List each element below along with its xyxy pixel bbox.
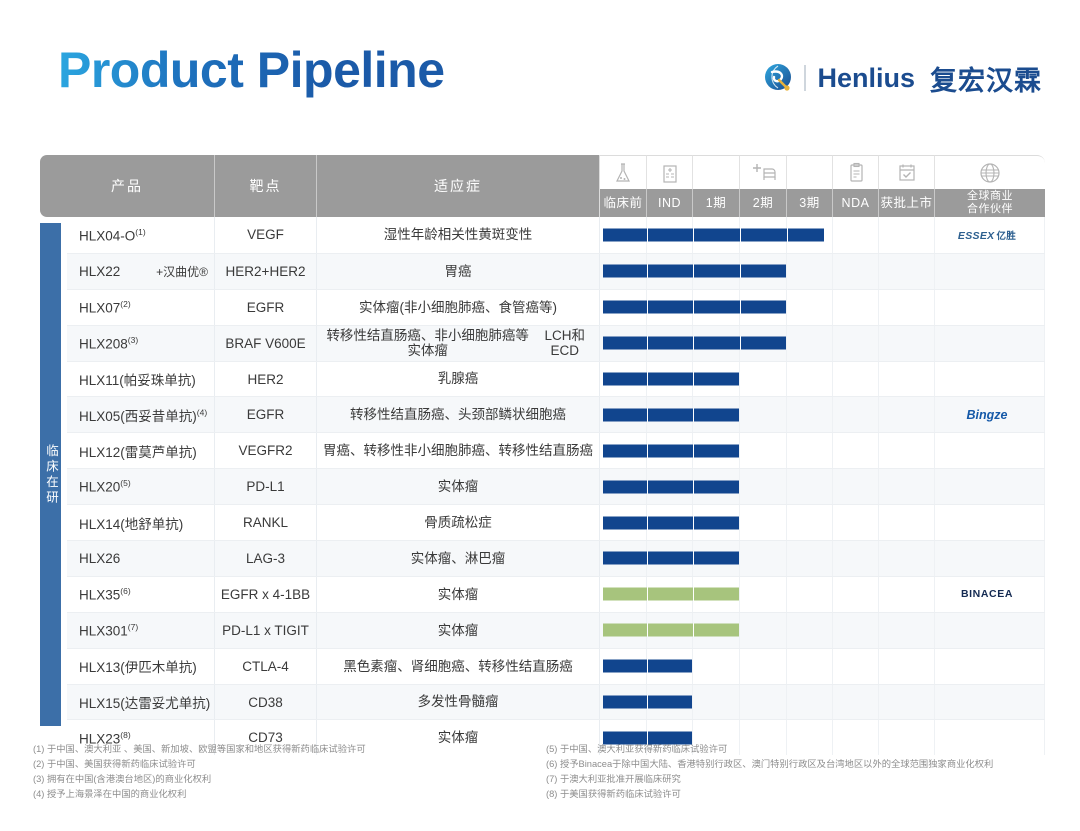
column-header-product: 产品 (40, 155, 215, 217)
footnote-left-2: (2) 于中国、美国获得新药临床试验许可 (33, 757, 540, 772)
rail-label: 临床在研 (42, 444, 59, 506)
indication-text: 实体瘤(非小细胞肺癌、食管癌等) (359, 300, 557, 315)
cell-product: HLX15(达雷妥尤单抗) (67, 685, 215, 720)
bar-segment-divider (693, 228, 694, 241)
stage-cell-2期 (740, 541, 787, 576)
stage-cell-3期 (787, 505, 833, 540)
progress-bar-blue (603, 265, 786, 278)
stage-cell-NDA (833, 541, 879, 576)
cell-indication: 实体瘤 (317, 577, 600, 612)
cell-product: HLX26 (67, 541, 215, 576)
progress-bar-blue (603, 337, 786, 350)
stage-cell-全球商业合作伙伴 (935, 469, 1045, 504)
stage-cell-获批上市 (879, 217, 935, 253)
stage-cell-获批上市 (879, 433, 935, 468)
footnote-right-4: (8) 于美国获得新药临床试验许可 (546, 787, 1047, 802)
partner-logo: Bingze (935, 402, 1039, 428)
global-partner-line1: 全球商业 (967, 190, 1013, 202)
stage-cell-2期 (740, 433, 787, 468)
product-name: HLX04-O(1) (79, 227, 146, 244)
cell-target: EGFR (215, 397, 317, 432)
progress-bar-blue (603, 660, 692, 673)
stage-cell-2期 (740, 613, 787, 648)
partner-logo: BINACEA (935, 581, 1039, 607)
table-row: HLX05(西妥昔单抗)(4)EGFR转移性结直肠癌、头颈部鳞状细胞癌Bingz… (67, 396, 1045, 432)
table-row: HLX20(5)PD-L1实体瘤 (67, 468, 1045, 504)
bar-segment-divider (647, 624, 648, 637)
product-name: HLX11(帕妥珠单抗) (79, 369, 196, 389)
stage-track (600, 613, 1045, 648)
cell-product: HLX13(伊匹木单抗) (67, 649, 215, 684)
footnote-marker: (4) (197, 407, 207, 417)
stage-cell-2期 (740, 505, 787, 540)
indication-text: 转移性结直肠癌、非小细胞肺癌等实体瘤 (321, 328, 534, 358)
indication-text: 实体瘤 (438, 479, 479, 494)
stage-cell-全球商业合作伙伴 (935, 362, 1045, 397)
stage-cell-3期 (787, 326, 833, 361)
product-name: HLX208(3) (79, 335, 138, 352)
clinical-stage-rail: 临床在研 (40, 223, 61, 726)
stage-label-approved: 获批上市 (879, 189, 935, 217)
cell-indication: 多发性骨髓瘤 (317, 685, 600, 720)
brand-divider (804, 65, 806, 91)
indication-text: 黑色素瘤、肾细胞癌、转移性结直肠癌 (343, 659, 573, 674)
cell-target: CD38 (215, 685, 317, 720)
stage-cell-3期 (787, 649, 833, 684)
stage-cell-NDA (833, 397, 879, 432)
product-name: HLX35(6) (79, 586, 131, 603)
stage-cell-获批上市 (879, 541, 935, 576)
cell-indication: 实体瘤、淋巴瘤 (317, 541, 600, 576)
stage-cell-NDA (833, 505, 879, 540)
stage-cell-获批上市 (879, 685, 935, 720)
bar-segment-divider (693, 588, 694, 601)
stage-cell-3期 (787, 577, 833, 612)
footnote-left-3: (3) 拥有在中国(含港澳台地区)的商业化权利 (33, 772, 540, 787)
product-name: HLX12(雷莫芦单抗) (79, 441, 197, 461)
stage-track (600, 685, 1045, 720)
table-row: HLX26LAG-3实体瘤、淋巴瘤 (67, 540, 1045, 576)
stage-cell-3期 (787, 613, 833, 648)
cell-indication: 骨质疏松症 (317, 505, 600, 540)
stage-label-row: 临床前 IND 1期 2期 3期 NDA 获批上市 全球商业 合作伙伴 (600, 189, 1045, 217)
bar-segment-divider (647, 696, 648, 709)
page-header: Product Pipeline Henlius 复 (0, 0, 1080, 140)
cell-indication: 转移性结直肠癌、头颈部鳞状细胞癌 (317, 397, 600, 432)
cell-product: HLX11(帕妥珠单抗) (67, 362, 215, 397)
stage-cell-获批上市 (879, 505, 935, 540)
cell-target: EGFR (215, 290, 317, 325)
stage-cell-全球商业合作伙伴 (935, 326, 1045, 361)
column-header-target: 靶点 (215, 155, 317, 217)
stage-cell-3期 (787, 290, 833, 325)
cell-indication: 黑色素瘤、肾细胞癌、转移性结直肠癌 (317, 649, 600, 684)
partner-logo-essex: ESSEX亿胜 (958, 228, 1016, 242)
stage-label-phase3: 3期 (787, 189, 833, 217)
stage-cell-全球商业合作伙伴 (935, 685, 1045, 720)
globe-icon (935, 155, 1045, 189)
indication-text: 多发性骨髓瘤 (418, 694, 499, 709)
footnote-marker: (3) (128, 335, 138, 345)
cell-target: RANKL (215, 505, 317, 540)
stage-cell-3期 (787, 362, 833, 397)
flask-icon (600, 155, 647, 189)
cell-product: HLX301(7) (67, 613, 215, 648)
partner-logo-binacea: BINACEA (961, 588, 1013, 600)
stage-track: ESSEX亿胜 (600, 217, 1045, 253)
cell-target: HER2 (215, 362, 317, 397)
product-name: HLX26 (79, 551, 120, 566)
progress-bar-green (603, 588, 739, 601)
partner-logo: ESSEX亿胜 (935, 222, 1039, 248)
table-row: HLX35(6)EGFR x 4-1BB实体瘤BINACEA (67, 576, 1045, 612)
stage-cell-获批上市 (879, 613, 935, 648)
stage-cell-NDA (833, 362, 879, 397)
product-name: HLX301(7) (79, 622, 138, 639)
product-pipeline-page: Product Pipeline Henlius 复 (0, 0, 1080, 831)
stage-cell-3期 (787, 433, 833, 468)
stage-cell-全球商业合作伙伴 (935, 433, 1045, 468)
stage-cell-NDA (833, 649, 879, 684)
progress-bar-blue (603, 408, 739, 421)
cell-product: HLX07(2) (67, 290, 215, 325)
bar-segment-divider (647, 552, 648, 565)
cell-indication: 乳腺癌 (317, 362, 600, 397)
cell-target: HER2+HER2 (215, 254, 317, 289)
stage-cell-全球商业合作伙伴 (935, 541, 1045, 576)
bar-segment-divider (693, 444, 694, 457)
bar-segment-divider (647, 444, 648, 457)
indication-text: 乳腺癌 (438, 371, 479, 386)
stage-label-global-partner: 全球商业 合作伙伴 (935, 189, 1045, 217)
cell-target: LAG-3 (215, 541, 317, 576)
cell-indication: 实体瘤 (317, 613, 600, 648)
bar-segment-divider (647, 373, 648, 386)
bar-segment-divider (693, 408, 694, 421)
bar-segment-divider (693, 301, 694, 314)
table-row: HLX07(2)EGFR实体瘤(非小细胞肺癌、食管癌等) (67, 289, 1045, 325)
indication-text-line2: LCH和ECD (534, 328, 595, 358)
brand-name-en: Henlius (817, 63, 915, 94)
stage-track: Bingze (600, 397, 1045, 432)
stage-label-phase2: 2期 (740, 189, 787, 217)
product-name: HLX13(伊匹木单抗) (79, 656, 197, 676)
calendar-check-icon (879, 155, 935, 189)
bar-segment-divider (693, 265, 694, 278)
stage-label-phase1: 1期 (693, 189, 740, 217)
stage-track (600, 254, 1045, 289)
stage-cell-NDA (833, 613, 879, 648)
stage-track (600, 469, 1045, 504)
table-row: HLX208(3)BRAF V600E转移性结直肠癌、非小细胞肺癌等实体瘤LCH… (67, 325, 1045, 361)
cell-target: VEGFR2 (215, 433, 317, 468)
table-row: HLX12(雷莫芦单抗)VEGFR2胃癌、转移性非小细胞肺癌、转移性结直肠癌 (67, 432, 1045, 468)
bar-segment-divider (647, 337, 648, 350)
indication-text: 实体瘤 (438, 623, 479, 638)
stage-cell-NDA (833, 290, 879, 325)
column-header-indication: 适应症 (317, 155, 600, 217)
stage-track (600, 362, 1045, 397)
stage-cell-获批上市 (879, 254, 935, 289)
bar-segment-divider (647, 588, 648, 601)
stage-cell-获批上市 (879, 397, 935, 432)
stage-cell-2期 (740, 685, 787, 720)
bar-segment-divider (787, 228, 788, 241)
stage-cell-NDA (833, 254, 879, 289)
cell-indication: 实体瘤(非小细胞肺癌、食管癌等) (317, 290, 600, 325)
footnote-left-1: (1) 于中国、澳大利亚 、美国、新加坡、欧盟等国家和地区获得新药临床试验许可 (33, 742, 540, 757)
global-partner-line2: 合作伙伴 (967, 203, 1013, 215)
cell-target: PD-L1 (215, 469, 317, 504)
henlius-globe-logo-icon (763, 62, 795, 94)
stage-cell-全球商业合作伙伴 (935, 613, 1045, 648)
stage-label-ind: IND (647, 189, 693, 217)
progress-bar-blue (603, 552, 739, 565)
indication-text: 胃癌、转移性非小细胞肺癌、转移性结直肠癌 (323, 443, 593, 458)
cell-target: EGFR x 4-1BB (215, 577, 317, 612)
pipeline-row-list: HLX04-O(1)VEGF湿性年龄相关性黄斑变性ESSEX亿胜HLX22+汉曲… (67, 217, 1045, 755)
cell-indication: 胃癌、转移性非小细胞肺癌、转移性结直肠癌 (317, 433, 600, 468)
stage-label-preclinical: 临床前 (600, 189, 647, 217)
cell-target: PD-L1 x TIGIT (215, 613, 317, 648)
partner-logo-bingze: Bingze (967, 408, 1008, 422)
stage-cell-获批上市 (879, 577, 935, 612)
stage-track (600, 541, 1045, 576)
cell-product: HLX35(6) (67, 577, 215, 612)
product-name: HLX14(地舒单抗) (79, 513, 183, 533)
cell-product: HLX05(西妥昔单抗)(4) (67, 397, 215, 432)
pipeline-table: 产品 靶点 适应症 (40, 155, 1045, 755)
stage-cell-NDA (833, 685, 879, 720)
stage-cell-3期 (787, 685, 833, 720)
product-name: HLX07(2) (79, 299, 131, 316)
indication-text: 实体瘤、淋巴瘤 (411, 551, 506, 566)
cell-target: BRAF V600E (215, 326, 317, 361)
bar-segment-divider (693, 624, 694, 637)
page-title: Product Pipeline (58, 41, 445, 99)
footnote-marker: (5) (120, 478, 130, 488)
table-body: 临床在研 HLX04-O(1)VEGF湿性年龄相关性黄斑变性ESSEX亿胜HLX… (40, 217, 1045, 755)
progress-bar-blue (603, 301, 786, 314)
stage-track (600, 649, 1045, 684)
footnotes-right-column: (5) 于中国、澳大利亚获得新药临床试验许可(6) 授予Binacea于除中国大… (540, 742, 1047, 802)
table-header-row: 产品 靶点 适应症 (40, 155, 1045, 217)
stage-cell-全球商业合作伙伴 (935, 505, 1045, 540)
stage-cell-2期 (740, 397, 787, 432)
cell-indication: 转移性结直肠癌、非小细胞肺癌等实体瘤LCH和ECD (317, 326, 600, 361)
stage-columns-header: 临床前 IND 1期 2期 3期 NDA 获批上市 全球商业 合作伙伴 (600, 155, 1045, 217)
stage-track (600, 505, 1045, 540)
stage-cell-全球商业合作伙伴 (935, 254, 1045, 289)
indication-text: 转移性结直肠癌、头颈部鳞状细胞癌 (350, 407, 566, 422)
stage-cell-1期 (693, 649, 740, 684)
bar-segment-divider (647, 480, 648, 493)
bar-segment-divider (693, 373, 694, 386)
hospital-bed-icon-phase1 (693, 155, 740, 189)
stage-cell-NDA (833, 433, 879, 468)
footnote-marker: (7) (128, 622, 138, 632)
cell-target: VEGF (215, 217, 317, 253)
stage-cell-2期 (740, 469, 787, 504)
stage-track (600, 433, 1045, 468)
stage-cell-全球商业合作伙伴 (935, 649, 1045, 684)
cell-product: HLX208(3) (67, 326, 215, 361)
hospital-icon (647, 155, 693, 189)
footnote-right-3: (7) 于澳大利亚批准开展临床研究 (546, 772, 1047, 787)
clinical-rail-column: 临床在研 (40, 217, 67, 755)
stage-cell-1期 (693, 685, 740, 720)
bar-segment-divider (693, 337, 694, 350)
bar-segment-divider (647, 228, 648, 241)
cell-product: HLX20(5) (67, 469, 215, 504)
table-row: HLX11(帕妥珠单抗)HER2乳腺癌 (67, 361, 1045, 397)
stage-track (600, 290, 1045, 325)
table-row: HLX22+汉曲优®HER2+HER2胃癌 (67, 253, 1045, 289)
stage-cell-获批上市 (879, 362, 935, 397)
indication-text: 湿性年龄相关性黄斑变性 (384, 227, 533, 242)
stage-cell-NDA (833, 469, 879, 504)
progress-bar-green (603, 624, 739, 637)
product-name: HLX22 (79, 264, 120, 279)
progress-bar-blue (603, 696, 692, 709)
footnote-right-2: (6) 授予Binacea于除中国大陆、香港特别行政区、澳门特别行政区及台湾地区… (546, 757, 1047, 772)
cell-product: HLX22+汉曲优® (67, 254, 215, 289)
stage-label-nda: NDA (833, 189, 879, 217)
footnote-right-1: (5) 于中国、澳大利亚获得新药临床试验许可 (546, 742, 1047, 757)
stage-cell-3期 (787, 541, 833, 576)
table-row: HLX13(伊匹木单抗)CTLA-4黑色素瘤、肾细胞癌、转移性结直肠癌 (67, 648, 1045, 684)
indication-text: 骨质疏松症 (424, 515, 492, 530)
product-name: HLX15(达雷妥尤单抗) (79, 692, 210, 712)
stage-cell-获批上市 (879, 326, 935, 361)
bar-segment-divider (693, 480, 694, 493)
footnotes: (1) 于中国、澳大利亚 、美国、新加坡、欧盟等国家和地区获得新药临床试验许可(… (33, 742, 1047, 802)
stage-cell-3期 (787, 254, 833, 289)
indication-text: 实体瘤 (438, 587, 479, 602)
bar-segment-divider (740, 337, 741, 350)
cell-product: HLX04-O(1) (67, 217, 215, 253)
cell-indication: 胃癌 (317, 254, 600, 289)
progress-bar-blue (603, 444, 739, 457)
footnotes-left-column: (1) 于中国、澳大利亚 、美国、新加坡、欧盟等国家和地区获得新药临床试验许可(… (33, 742, 540, 802)
stage-cell-全球商业合作伙伴 (935, 290, 1045, 325)
progress-bar-blue (603, 373, 739, 386)
cell-indication: 实体瘤 (317, 469, 600, 504)
stage-cell-3期 (787, 397, 833, 432)
cell-indication: 湿性年龄相关性黄斑变性 (317, 217, 600, 253)
cell-product: HLX14(地舒单抗) (67, 505, 215, 540)
footnote-marker: (2) (120, 299, 130, 309)
footnote-marker: (1) (135, 227, 145, 237)
bar-segment-divider (647, 301, 648, 314)
cell-product: HLX12(雷莫芦单抗) (67, 433, 215, 468)
table-row: HLX301(7)PD-L1 x TIGIT实体瘤 (67, 612, 1045, 648)
progress-bar-blue (603, 480, 739, 493)
brand-name-cn: 复宏汉霖 (930, 59, 1042, 98)
stage-cell-获批上市 (879, 290, 935, 325)
brand-lockup: Henlius 复宏汉霖 (763, 57, 1042, 99)
stage-cell-2期 (740, 362, 787, 397)
table-row: HLX15(达雷妥尤单抗)CD38多发性骨髓瘤 (67, 684, 1045, 720)
footnote-left-4: (4) 授予上海景泽在中国的商业化权利 (33, 787, 540, 802)
cell-target: CTLA-4 (215, 649, 317, 684)
stage-cell-获批上市 (879, 469, 935, 504)
stage-cell-获批上市 (879, 649, 935, 684)
stage-cell-NDA (833, 217, 879, 253)
bar-segment-divider (647, 408, 648, 421)
hospital-bed-icon-phase2 (740, 155, 787, 189)
product-name: HLX20(5) (79, 478, 131, 495)
stage-cell-3期 (787, 469, 833, 504)
bar-segment-divider (647, 265, 648, 278)
stage-cell-2期 (740, 649, 787, 684)
stage-cell-NDA (833, 577, 879, 612)
footnote-marker: (8) (120, 730, 130, 740)
table-row: HLX04-O(1)VEGF湿性年龄相关性黄斑变性ESSEX亿胜 (67, 217, 1045, 253)
bar-segment-divider (647, 516, 648, 529)
progress-bar-blue (603, 516, 739, 529)
bar-segment-divider (693, 516, 694, 529)
product-name: HLX05(西妥昔单抗)(4) (79, 405, 207, 425)
stage-track: BINACEA (600, 577, 1045, 612)
stage-icon-row (600, 155, 1045, 189)
stage-cell-2期 (740, 577, 787, 612)
bar-segment-divider (647, 660, 648, 673)
stage-cell-NDA (833, 326, 879, 361)
bar-segment-divider (740, 265, 741, 278)
hospital-bed-icon-phase3 (787, 155, 833, 189)
progress-bar-blue (603, 228, 824, 241)
product-combination-label: +汉曲优® (156, 263, 208, 280)
indication-text: 胃癌 (445, 264, 472, 279)
bar-segment-divider (740, 228, 741, 241)
clipboard-icon (833, 155, 879, 189)
stage-track (600, 326, 1045, 361)
bar-segment-divider (693, 552, 694, 565)
footnote-marker: (6) (120, 586, 130, 596)
table-row: HLX14(地舒单抗)RANKL骨质疏松症 (67, 504, 1045, 540)
bar-segment-divider (740, 301, 741, 314)
